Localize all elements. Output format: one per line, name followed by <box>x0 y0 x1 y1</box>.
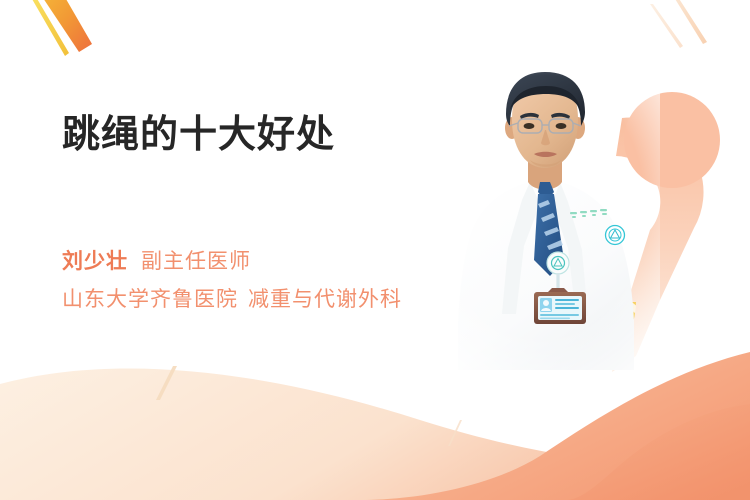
ribbon-yellow-line <box>21 0 69 56</box>
doctor-portrait <box>430 70 660 370</box>
bottom-deep-wave <box>566 404 750 500</box>
page-title: 跳绳的十大好处 <box>62 112 335 160</box>
doctor-affiliation: 山东大学齐鲁医院 <box>62 288 238 311</box>
doctor-title: 副主任医师 <box>141 250 251 273</box>
bottom-left-tick-mark <box>156 366 177 400</box>
bottom-salmon-wave <box>360 352 750 500</box>
topright-hairlines <box>650 0 707 48</box>
doctor-department: 减重与代谢外科 <box>248 288 402 311</box>
byline-row-name: 刘少壮副主任医师 <box>62 247 402 277</box>
slide-canvas: 跳绳的十大好处 刘少壮副主任医师 山东大学齐鲁医院减重与代谢外科 <box>0 0 750 500</box>
portrait-vignette <box>430 70 660 370</box>
bottom-right-tick-mark <box>448 420 462 446</box>
doctor-name: 刘少壮 <box>62 250 128 273</box>
byline: 刘少壮副主任医师 山东大学齐鲁医院减重与代谢外科 <box>62 247 402 315</box>
byline-row-affiliation: 山东大学齐鲁医院减重与代谢外科 <box>62 285 402 315</box>
ribbon-orange-stripe <box>31 0 92 52</box>
bottom-light-wave <box>0 368 750 500</box>
